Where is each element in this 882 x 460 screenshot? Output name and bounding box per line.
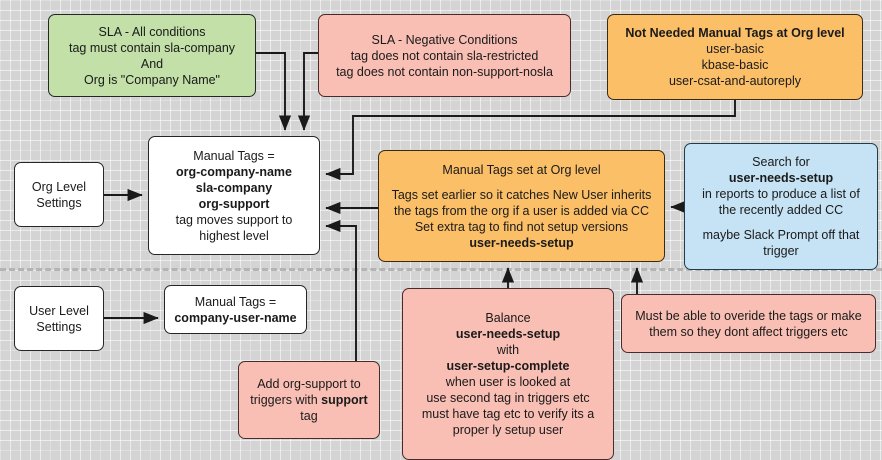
- node-line: user-basic: [706, 41, 764, 57]
- node-line: tag moves support to: [176, 212, 293, 228]
- node-line: tag: [300, 408, 317, 424]
- node-line: the tags from the org if a user is added…: [394, 203, 649, 219]
- node-line: Org Level: [32, 179, 86, 195]
- must-override-tags-box[interactable]: Must be able to overide the tags or make…: [621, 294, 876, 353]
- manual-tags-set-at-org-level-box[interactable]: Manual Tags set at Org levelTags set ear…: [378, 150, 665, 262]
- node-line: user-needs-setup: [729, 170, 833, 186]
- node-line: Must be able to overide the tags or make: [635, 308, 862, 324]
- node-line: sla-company: [196, 180, 272, 196]
- node-line: Manual Tags =: [193, 148, 274, 164]
- add-org-support-triggers-box[interactable]: Add org-support totriggers with supportt…: [238, 361, 380, 439]
- node-line: Settings: [36, 195, 81, 211]
- manual-tags-org-box[interactable]: Manual Tags =org-company-namesla-company…: [148, 136, 320, 255]
- node-line: org-company-name: [176, 164, 292, 180]
- node-line: Balance: [485, 310, 530, 326]
- not-needed-manual-tags-box[interactable]: Not Needed Manual Tags at Org leveluser-…: [607, 14, 863, 100]
- sla-negative-conditions-box[interactable]: SLA - Negative Conditionstag does not co…: [318, 14, 571, 97]
- node-line-text: triggers with: [250, 393, 321, 407]
- node-line: Org is "Company Name": [84, 72, 220, 88]
- org-level-settings-box[interactable]: Org LevelSettings: [14, 162, 104, 227]
- node-line: tag must contain sla-company: [69, 40, 235, 56]
- node-line: kbase-basic: [702, 57, 769, 73]
- node-line: And: [141, 56, 163, 72]
- node-line: user-needs-setup: [456, 326, 560, 342]
- node-line: user-setup-complete: [447, 358, 570, 374]
- node-line: Search for: [752, 154, 810, 170]
- node-line: proper ly setup user: [453, 422, 563, 438]
- node-line: Tags set earlier so it catches New User …: [392, 187, 652, 203]
- manual-tags-user-box[interactable]: Manual Tags =company-user-name: [164, 285, 307, 334]
- sla-all-conditions-box[interactable]: SLA - All conditionstag must contain sla…: [48, 14, 256, 97]
- node-line: Not Needed Manual Tags at Org level: [625, 25, 844, 41]
- node-line: Settings: [36, 319, 81, 335]
- balance-tags-box[interactable]: Balanceuser-needs-setupwithuser-setup-co…: [402, 288, 614, 460]
- node-line: Manual Tags =: [195, 294, 276, 310]
- wire-sla-negative-to-manual-tags-org: [304, 53, 318, 130]
- node-line: with: [497, 342, 519, 358]
- node-line: triggers with support: [250, 392, 367, 408]
- node-line: user-csat-and-autoreply: [669, 73, 801, 89]
- node-line: trigger: [763, 243, 798, 259]
- node-line: highest level: [199, 228, 269, 244]
- node-line: user-needs-setup: [469, 235, 573, 251]
- wire-sla-all-to-manual-tags-org: [256, 53, 285, 130]
- node-line: in reports to produce a list of: [702, 186, 860, 202]
- node-line: Add org-support to: [257, 376, 361, 392]
- node-line-emphasis: support: [321, 393, 368, 407]
- node-line: maybe Slack Prompt off that: [703, 227, 860, 243]
- node-line: use second tag in triggers etc: [426, 390, 589, 406]
- node-line: must have tag etc to verify its a: [422, 406, 594, 422]
- node-line: company-user-name: [174, 310, 296, 326]
- node-line: User Level: [29, 303, 89, 319]
- node-line: Manual Tags set at Org level: [442, 162, 600, 178]
- node-line: tag does not contain non-support-nosla: [336, 64, 553, 80]
- node-line: SLA - All conditions: [98, 24, 205, 40]
- node-line: when user is looked at: [446, 374, 570, 390]
- node-line: the recently added CC: [719, 202, 843, 218]
- node-line: Set extra tag to find not setup versions: [415, 219, 628, 235]
- flowchart-canvas: SLA - All conditionstag must contain sla…: [0, 0, 882, 460]
- node-line: tag does not contain sla-restricted: [351, 48, 539, 64]
- user-level-settings-box[interactable]: User LevelSettings: [14, 286, 104, 351]
- search-user-needs-setup-box[interactable]: Search foruser-needs-setupin reports to …: [684, 143, 878, 270]
- wire-add-org-support-to-manual-tags-org: [326, 226, 356, 361]
- node-line: them so they dont affect triggers etc: [649, 324, 848, 340]
- node-line: org-support: [199, 196, 270, 212]
- node-line: SLA - Negative Conditions: [372, 32, 518, 48]
